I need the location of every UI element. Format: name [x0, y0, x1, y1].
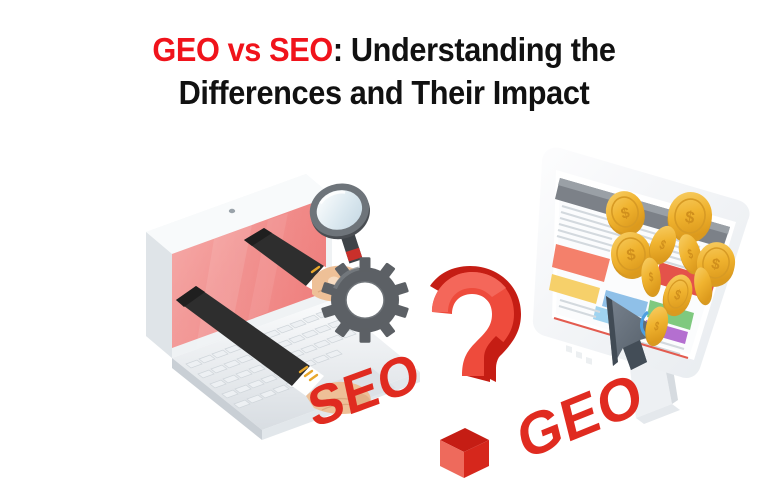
window-dot: [586, 357, 592, 365]
question-mark-3d: [430, 266, 521, 478]
label-geo: GEO: [511, 360, 649, 473]
infographic-canvas: GEO vs SEO: Understanding the Difference…: [0, 0, 768, 500]
window-dot: [566, 345, 572, 353]
geo-text: GEO: [511, 360, 649, 473]
question-mark-dot-cube: [440, 428, 489, 478]
illustration-artwork: $ $ $ $: [0, 0, 768, 500]
webcam-dot: [229, 209, 235, 213]
window-dot: [576, 351, 582, 359]
